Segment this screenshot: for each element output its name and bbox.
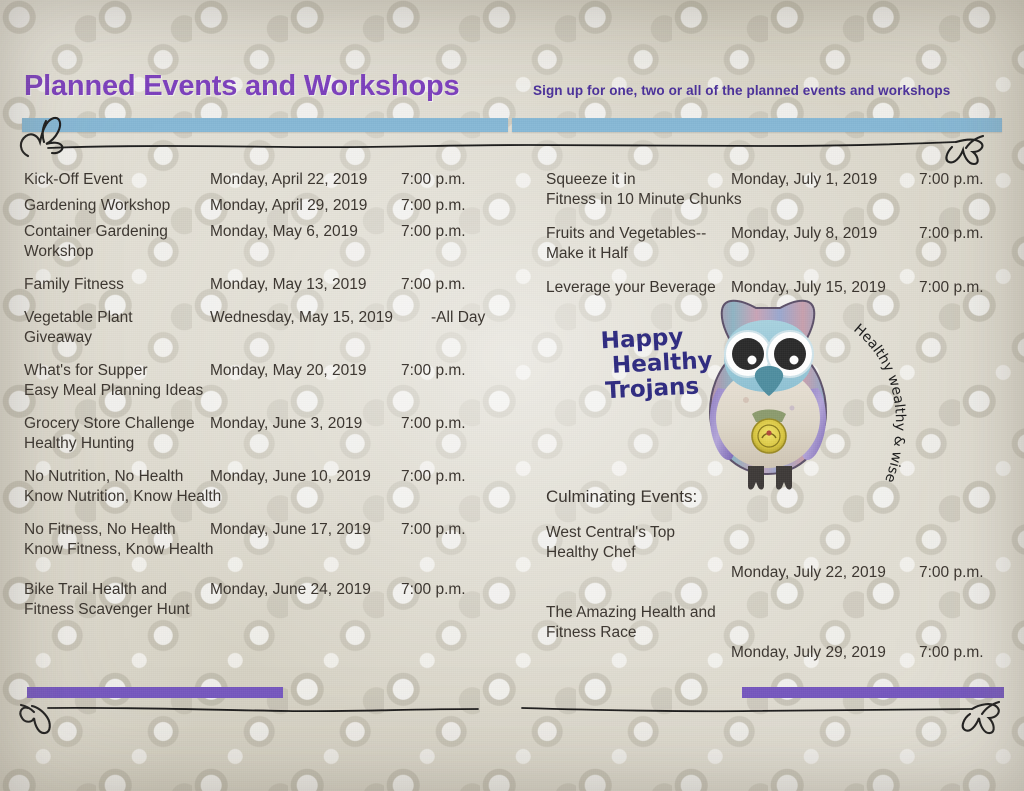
event-date: Monday, July 22, 2019 [731,563,886,583]
svg-text:Healthy wealthy & wise: Healthy wealthy & wise [850,321,908,484]
event-name: What's for Supper [24,361,148,381]
event-row[interactable]: Gardening Workshop Monday, April 29, 201… [24,196,494,216]
event-row[interactable]: No Nutrition, No Health Know Nutrition, … [24,467,494,507]
ffa-emblem-icon [752,410,786,454]
event-subtitle: Fitness Race [546,623,1006,643]
event-name: Fruits and Vegetables-- [546,224,706,244]
event-time: 7:00 p.m. [919,278,984,298]
event-name: Vegetable Plant [24,308,133,328]
event-time: 7:00 p.m. [401,170,466,190]
event-time: 7:00 p.m. [401,222,466,242]
event-name: Kick-Off Event [24,170,123,190]
event-time: 7:00 p.m. [401,520,466,540]
event-name: Squeeze it in [546,170,636,190]
event-row[interactable]: Grocery Store Challenge Healthy Hunting … [24,414,494,454]
event-subtitle: Easy Meal Planning Ideas [24,381,494,401]
event-date: Monday, June 24, 2019 [210,580,371,600]
event-name: Family Fitness [24,275,124,295]
event-subtitle: Healthy Hunting [24,434,494,454]
event-time: 7:00 p.m. [919,643,984,663]
event-date: Monday, July 15, 2019 [731,278,886,298]
event-time: 7:00 p.m. [401,196,466,216]
event-name: Bike Trail Health and [24,580,167,600]
event-date: Monday, June 3, 2019 [210,414,362,434]
event-date: Monday, July 29, 2019 [731,643,886,663]
logo-motto: Healthy wealthy & wise [832,318,922,493]
event-date: Monday, May 6, 2019 [210,222,358,242]
event-name: No Fitness, No Health [24,520,176,540]
event-time: 7:00 p.m. [919,170,984,190]
event-name: Leverage your Beverage [546,278,716,298]
event-subtitle: Make it Half [546,244,1006,264]
footer-squiggle-left [8,690,508,740]
event-name: No Nutrition, No Health [24,467,183,487]
event-name: Grocery Store Challenge [24,414,195,434]
event-subtitle: Know Fitness, Know Health [24,540,494,560]
event-date: Monday, April 22, 2019 [210,170,367,190]
event-name: The Amazing Health and [546,603,716,623]
header-squiggle [8,112,1008,164]
event-date: Monday, June 10, 2019 [210,467,371,487]
table-row[interactable]: West Central's Top Healthy Chef Monday, … [546,523,1006,563]
event-time: 7:00 p.m. [919,224,984,244]
event-row[interactable]: No Fitness, No Health Know Fitness, Know… [24,520,494,560]
culminating-event-column: West Central's Top Healthy Chef Monday, … [546,523,1006,643]
event-time: 7:00 p.m. [401,275,466,295]
event-subtitle: Fitness in 10 Minute Chunks [546,190,1006,210]
event-time: 7:00 p.m. [401,467,466,487]
event-name: Container Gardening [24,222,168,242]
event-row[interactable]: Leverage your Beverage Monday, July 15, … [546,278,1006,298]
event-date: Monday, May 13, 2019 [210,275,367,295]
event-name: Gardening Workshop [24,196,170,216]
event-date: Monday, May 20, 2019 [210,361,367,381]
event-date: Monday, July 1, 2019 [731,170,877,190]
event-row[interactable]: Container Gardening Workshop Monday, May… [24,222,494,262]
event-subtitle: Workshop [24,242,494,262]
logo-motto-text: Healthy wealthy & wise [850,321,908,484]
event-subtitle: Fitness Scavenger Hunt [24,600,494,620]
event-row[interactable]: What's for Supper Easy Meal Planning Ide… [24,361,494,401]
event-time: -All Day [431,308,485,328]
event-date: Monday, June 17, 2019 [210,520,371,540]
event-row[interactable]: Fruits and Vegetables-- Make it Half Mon… [546,224,1006,264]
flyer-page: Planned Events and Workshops Sign up for… [0,0,1024,791]
event-time: 7:00 p.m. [401,414,466,434]
happy-healthy-trojans-logo: Happy Healthy Trojans Healthy wealthy & … [596,296,916,496]
event-row[interactable]: Vegetable Plant Giveaway Wednesday, May … [24,308,494,348]
table-row[interactable]: The Amazing Health and Fitness Race Mond… [546,603,1006,643]
right-event-column: Squeeze it in Fitness in 10 Minute Chunk… [546,170,1006,298]
left-event-column: Kick-Off Event Monday, April 22, 2019 7:… [24,170,494,620]
event-time: 7:00 p.m. [401,580,466,600]
page-subtitle: Sign up for one, two or all of the plann… [533,83,950,98]
event-name: West Central's Top [546,523,675,543]
event-time: 7:00 p.m. [919,563,984,583]
event-row[interactable]: Family Fitness Monday, May 13, 2019 7:00… [24,275,494,295]
event-date: Monday, July 8, 2019 [731,224,877,244]
event-time: 7:00 p.m. [401,361,466,381]
event-subtitle: Know Nutrition, Know Health [24,487,494,507]
event-subtitle: Healthy Chef [546,543,1006,563]
footer-squiggle-right [512,690,1012,740]
event-row[interactable]: Squeeze it in Fitness in 10 Minute Chunk… [546,170,1006,210]
event-date: Wednesday, May 15, 2019 [210,308,393,328]
logo-wordmark: Happy Healthy Trojans [600,323,734,405]
page-title: Planned Events and Workshops [24,70,459,103]
event-date: Monday, April 29, 2019 [210,196,367,216]
event-row[interactable]: Kick-Off Event Monday, April 22, 2019 7:… [24,170,494,190]
event-row[interactable]: Bike Trail Health and Fitness Scavenger … [24,580,494,620]
event-subtitle: Giveaway [24,328,494,348]
